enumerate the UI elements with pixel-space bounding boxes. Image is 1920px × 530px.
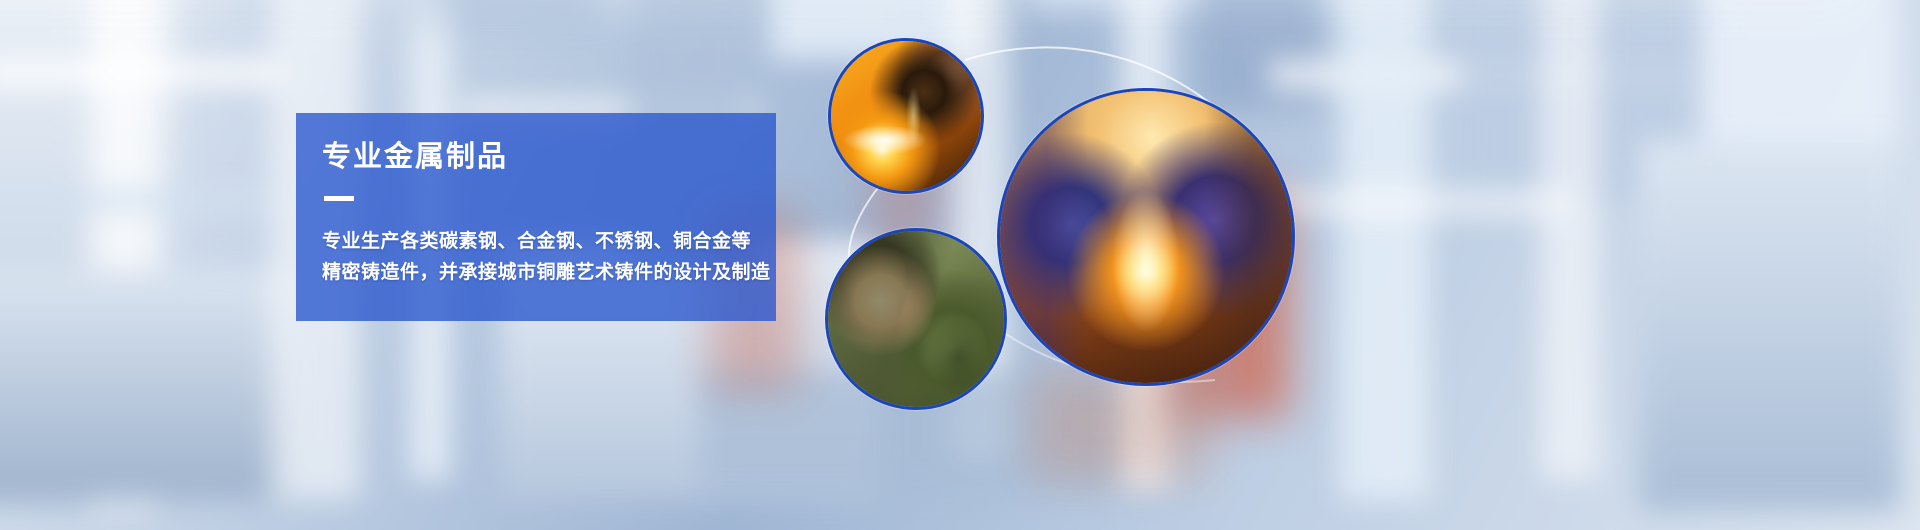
panel-title: 专业金属制品 [322, 143, 776, 172]
hero-banner: 专业金属制品 专业生产各类碳素钢、合金钢、不锈钢、铜合金等 精密铸造件，并承接城… [0, 0, 1920, 530]
foundry-molten-pour-photo [997, 88, 1295, 386]
panel-body-text: 专业生产各类碳素钢、合金钢、不锈钢、铜合金等 精密铸造件，并承接城市铜雕艺术铸件… [296, 226, 916, 288]
panel-body-line-2: 精密铸造件，并承接城市铜雕艺术铸件的设计及制造 [322, 257, 916, 288]
text-panel: 专业金属制品 [296, 113, 776, 321]
panel-body-line-1: 专业生产各类碳素钢、合金钢、不锈钢、铜合金等 [322, 226, 916, 257]
welding-sparks-photo [828, 38, 984, 194]
foundry-molten-pour-image [1000, 91, 1292, 383]
title-divider-rule [324, 196, 354, 201]
welding-sparks-image [831, 41, 981, 191]
